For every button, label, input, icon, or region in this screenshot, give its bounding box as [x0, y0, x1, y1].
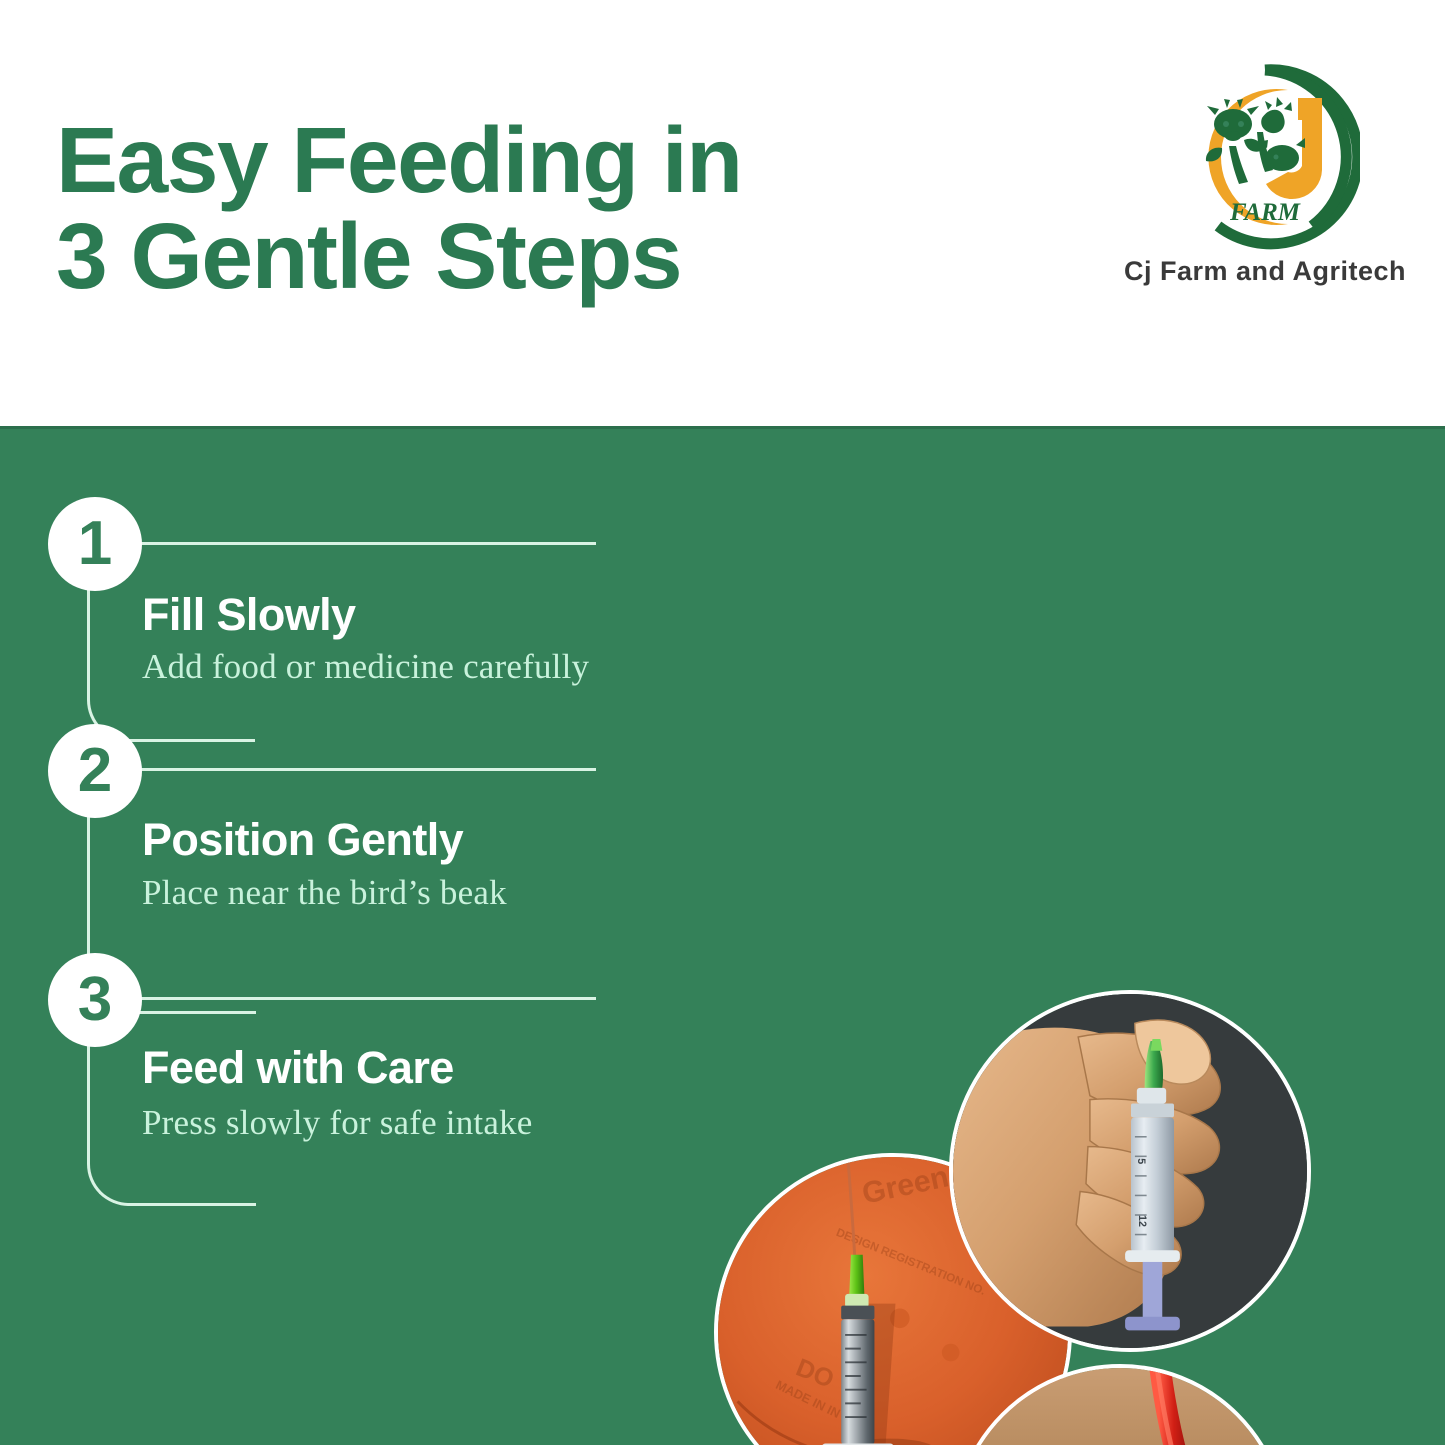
header-band: Easy Feeding in 3 Gentle Steps [0, 0, 1445, 426]
svg-text:12: 12 [1136, 1215, 1148, 1227]
step-rule-3 [140, 997, 596, 1000]
steps-panel: 1 Fill Slowly Add food or medicine caref… [0, 426, 1445, 1445]
cj-farm-logo-icon: FARM [1170, 62, 1360, 252]
step-number-badge-2: 2 [48, 724, 142, 818]
panel-top-divider [0, 426, 1445, 429]
svg-text:FARM: FARM [1229, 199, 1301, 226]
step-rule-2 [140, 768, 596, 771]
step-rule-1 [140, 542, 596, 545]
step-connector-3 [87, 1046, 256, 1206]
step-number-badge-3: 3 [48, 953, 142, 1047]
photo-hand-holding-syringe: 5 12 [949, 990, 1311, 1352]
svg-text:5: 5 [1135, 1158, 1147, 1164]
infographic-page: Easy Feeding in 3 Gentle Steps [0, 0, 1445, 1445]
page-title: Easy Feeding in 3 Gentle Steps [56, 112, 886, 304]
step-number-badge-1: 1 [48, 497, 142, 591]
title-line-2: 3 Gentle Steps [56, 208, 886, 304]
brand-caption: Cj Farm and Agritech [1120, 256, 1410, 287]
brand-logo: FARM Cj Farm and Agritech [1120, 62, 1410, 287]
title-line-1: Easy Feeding in [56, 112, 886, 208]
